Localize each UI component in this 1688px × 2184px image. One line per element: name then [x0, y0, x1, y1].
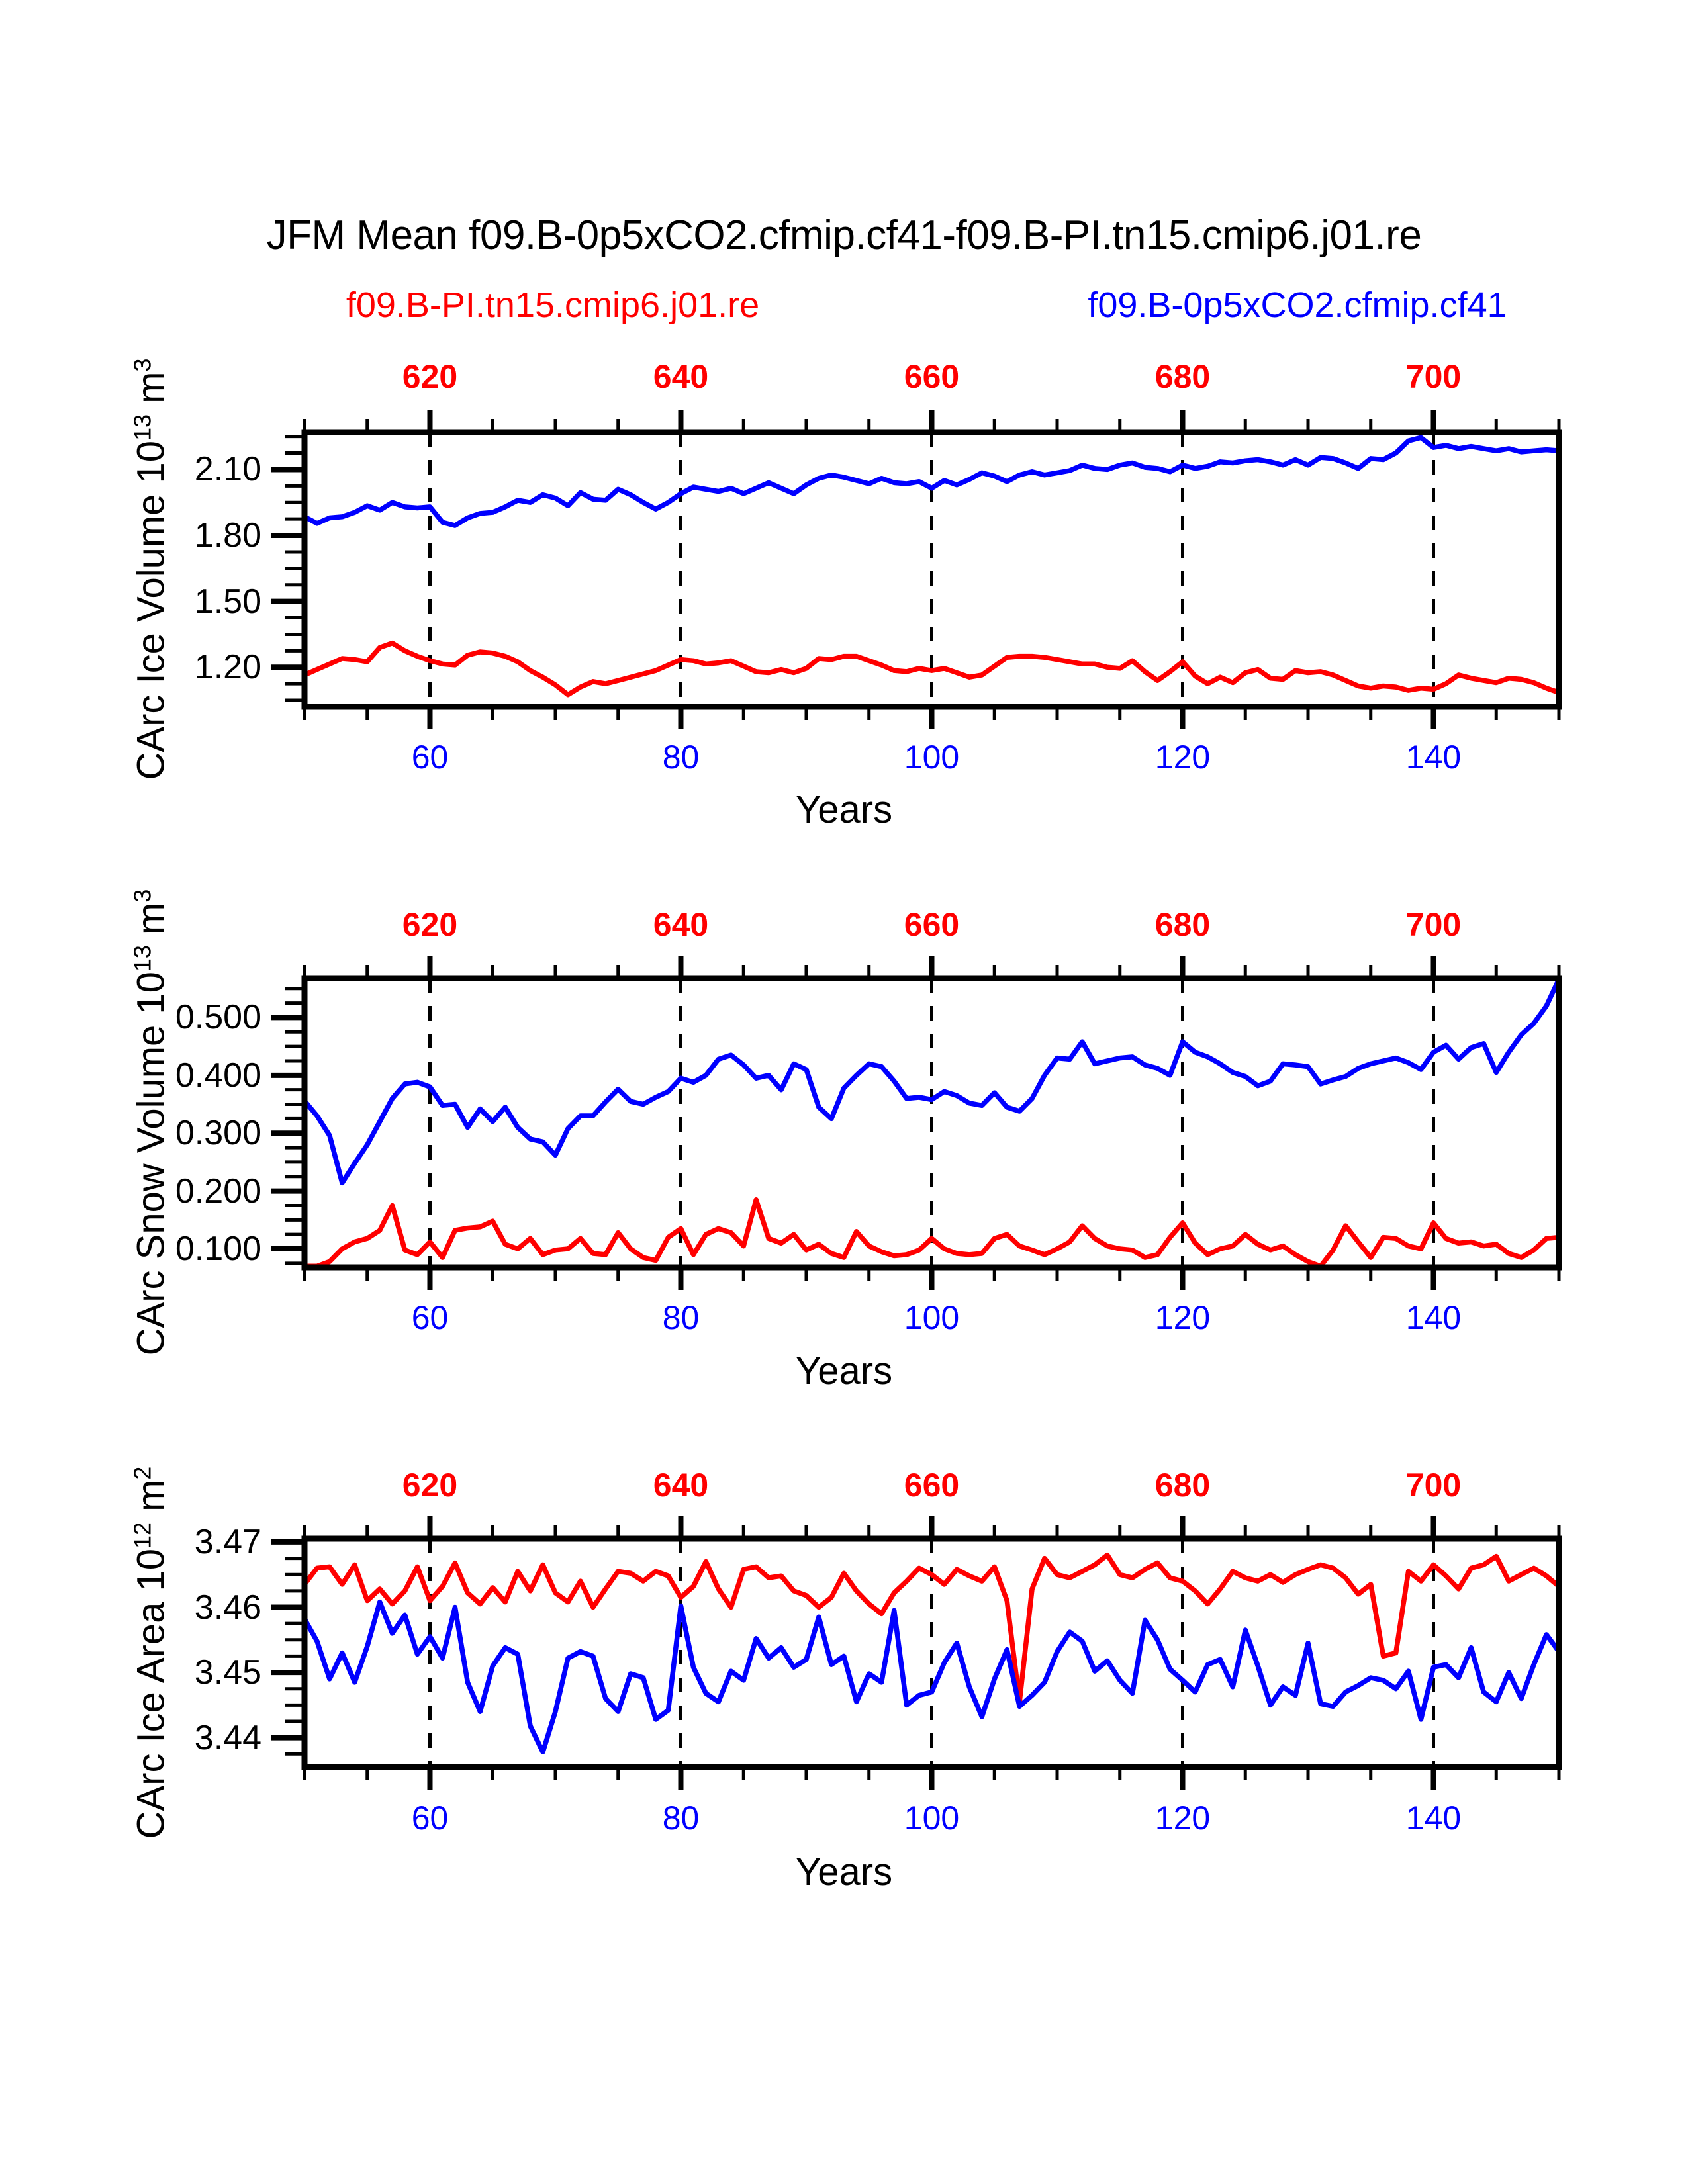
top-axis-tick-label: 700 — [1406, 1466, 1461, 1504]
top-axis-tick-label: 620 — [402, 1466, 457, 1504]
bottom-axis-tick-label: 140 — [1406, 1799, 1461, 1837]
figure-root: JFM Mean f09.B-0p5xCO2.cfmip.cf41-f09.B-… — [0, 0, 1688, 2184]
y-axis-label: CArc Ice Area 1012 m2 — [128, 1467, 173, 1839]
top-axis-tick-label: 660 — [904, 1466, 959, 1504]
bottom-axis-tick-label: 100 — [904, 1799, 959, 1837]
x-axis-label: Years — [0, 1850, 1688, 1894]
top-axis-tick-label: 680 — [1155, 1466, 1210, 1504]
bottom-axis-tick-label: 60 — [412, 1799, 449, 1837]
top-axis-tick-label: 640 — [653, 1466, 708, 1504]
bottom-axis-tick-label: 120 — [1155, 1799, 1210, 1837]
bottom-axis-tick-label: 80 — [663, 1799, 700, 1837]
